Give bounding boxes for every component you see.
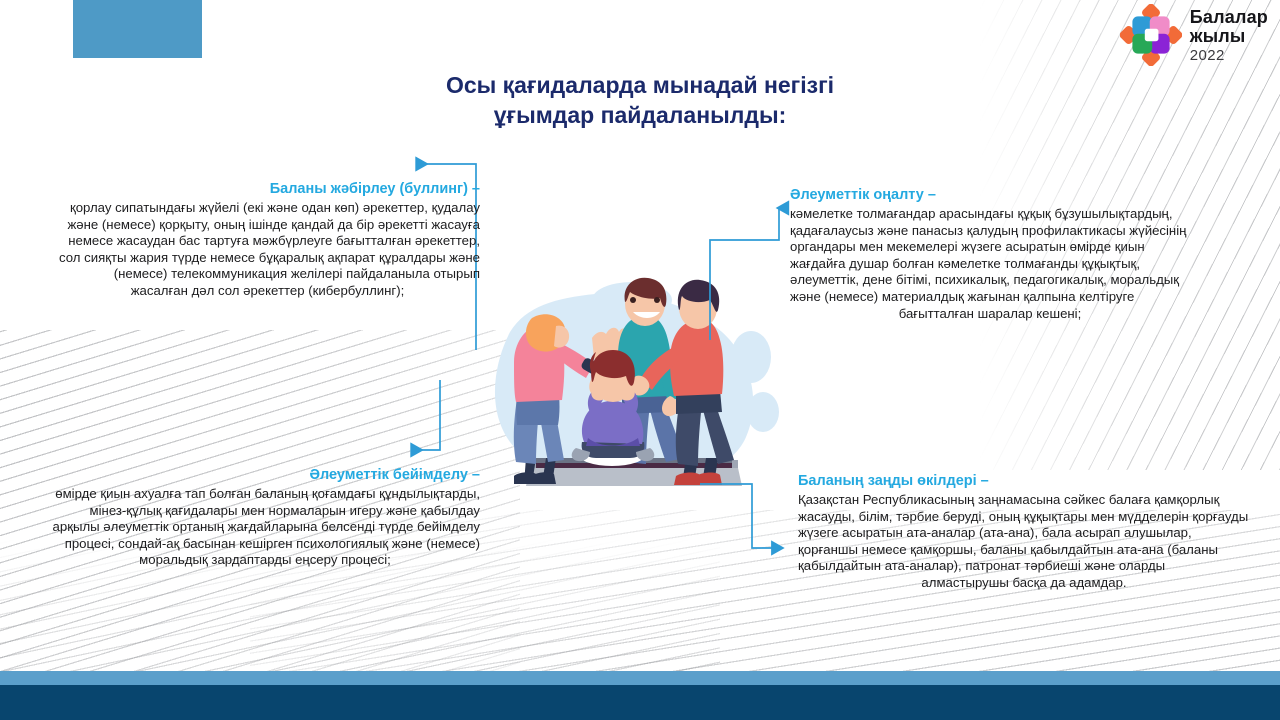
page-title-line-2: ұғымдар пайдаланылды: xyxy=(340,100,940,130)
footer-bar xyxy=(0,685,1280,720)
logo-text: Балалар жылы 2022 xyxy=(1190,8,1268,63)
concept-body-rehabilitation: кәмелетке толмағандар арасындағы құқық б… xyxy=(790,206,1190,322)
concept-heading-legal-representatives: Баланың заңды өкілдері – xyxy=(798,472,1250,490)
flower-logo-icon xyxy=(1120,4,1182,66)
corner-accent-block xyxy=(73,0,202,58)
concept-body-legal-representatives: Қазақстан Республикасының заңнамасына сә… xyxy=(798,492,1250,591)
concept-block-adaptation: Әлеуметтік бейімделу – өмірде қиын ахуал… xyxy=(50,466,480,569)
bullying-scene-illustration xyxy=(470,262,790,512)
footer-accent-stripe xyxy=(0,671,1280,685)
logo-year: 2022 xyxy=(1190,48,1268,63)
page-title: Осы қағидаларда мынадай негізгі ұғымдар … xyxy=(340,70,940,131)
page-title-line-1: Осы қағидаларда мынадай негізгі xyxy=(340,70,940,100)
concept-body-bullying: қорлау сипатындағы жүйелі (екі және одан… xyxy=(55,200,480,299)
concept-block-rehabilitation: Әлеуметтік оңалту – кәмелетке толмағанда… xyxy=(790,186,1190,322)
concept-heading-adaptation: Әлеуметтік бейімделу – xyxy=(50,466,480,484)
slide-canvas: Балалар жылы 2022 Осы қағидаларда мынада… xyxy=(0,0,1280,720)
connector-adaptation xyxy=(412,380,440,450)
balalar-zhyly-logo: Балалар жылы 2022 xyxy=(1120,4,1268,66)
concept-block-legal-representatives: Баланың заңды өкілдері – Қазақстан Респу… xyxy=(798,472,1250,592)
concept-heading-rehabilitation: Әлеуметтік оңалту – xyxy=(790,186,1190,204)
concept-block-bullying: Баланы жәбірлеу (буллинг) – қорлау сипат… xyxy=(55,180,480,300)
concept-body-adaptation: өмірде қиын ахуалға тап болған баланың қ… xyxy=(50,486,480,569)
concept-heading-bullying: Баланы жәбірлеу (буллинг) – xyxy=(55,180,480,198)
logo-line-1: Балалар xyxy=(1190,8,1268,26)
logo-line-2: жылы xyxy=(1190,27,1268,45)
